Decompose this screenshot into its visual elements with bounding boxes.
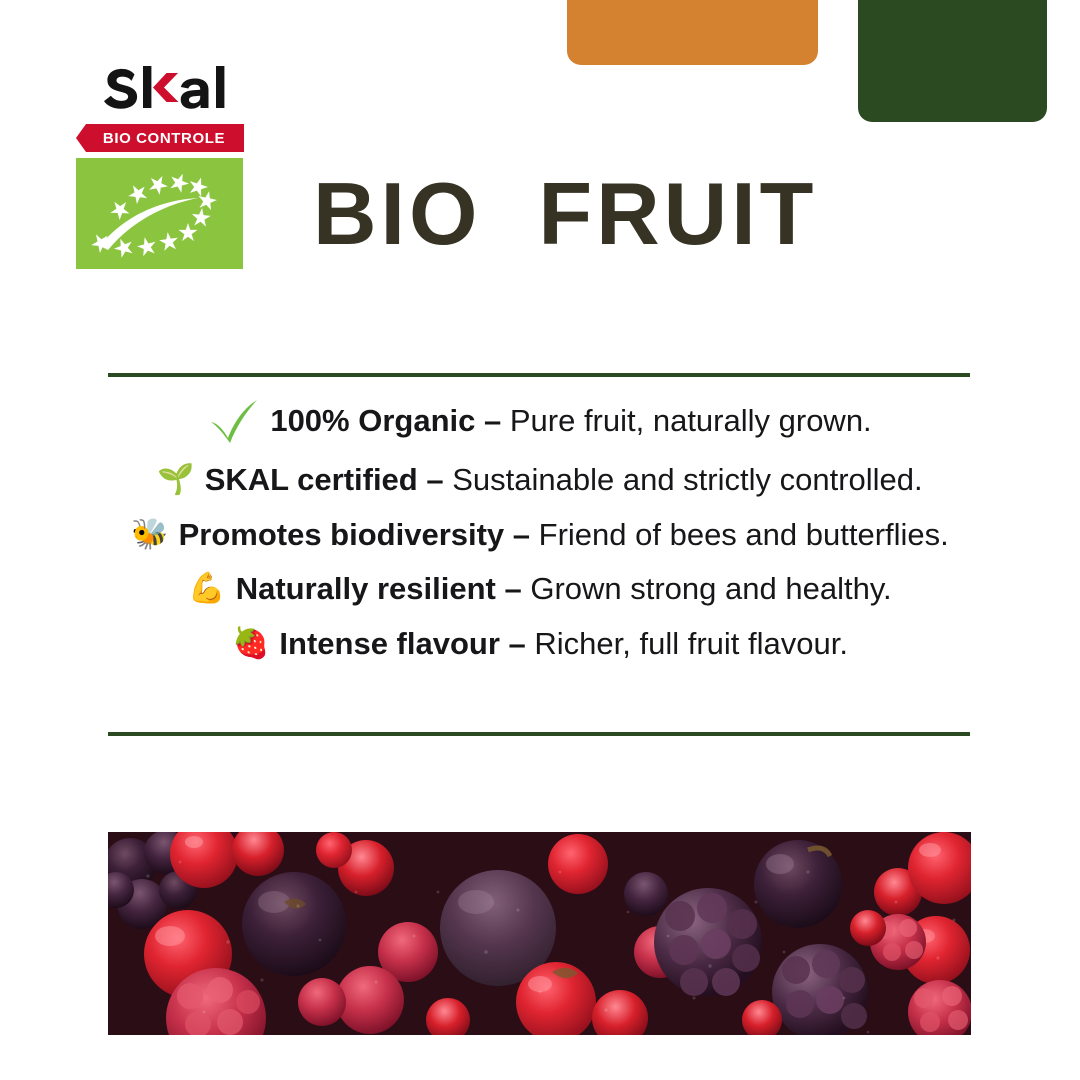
- feature-text: Promotes biodiversity – Friend of bees a…: [179, 517, 949, 554]
- feature-separator: –: [475, 403, 509, 438]
- feature-title: Intense flavour: [279, 626, 500, 661]
- list-item: 🌱 SKAL certified – Sustainable and stric…: [60, 462, 1020, 499]
- skal-certification-logo: BIO CONTROLE: [76, 62, 316, 269]
- feature-separator: –: [418, 462, 452, 497]
- feature-title: Naturally resilient: [236, 571, 496, 606]
- page-title: BIO FRUIT: [313, 170, 817, 258]
- feature-separator: –: [496, 571, 530, 606]
- feature-description: Richer, full fruit flavour.: [534, 626, 848, 661]
- feature-text: 100% Organic – Pure fruit, naturally gro…: [270, 403, 871, 440]
- skal-wordmark: [104, 62, 316, 120]
- divider-top: [108, 373, 970, 377]
- feature-description: Pure fruit, naturally grown.: [510, 403, 872, 438]
- green-accent-block: [858, 0, 1047, 122]
- bio-controle-banner: BIO CONTROLE: [76, 124, 244, 152]
- list-item: 🍓 Intense flavour – Richer, full fruit f…: [60, 626, 1020, 663]
- honeybee-icon: 🐝: [131, 520, 168, 550]
- divider-bottom: [108, 732, 970, 736]
- eu-organic-leaf-logo: [76, 158, 243, 269]
- flexed-biceps-icon: 💪: [188, 574, 225, 604]
- feature-list: 100% Organic – Pure fruit, naturally gro…: [60, 398, 1020, 662]
- mixed-berries-photo: [108, 832, 971, 1035]
- check-mark-icon: [208, 398, 260, 444]
- list-item: 100% Organic – Pure fruit, naturally gro…: [60, 398, 1020, 444]
- feature-description: Sustainable and strictly controlled.: [452, 462, 922, 497]
- strawberry-icon: 🍓: [232, 629, 269, 659]
- feature-title: Promotes biodiversity: [179, 517, 505, 552]
- feature-separator: –: [504, 517, 538, 552]
- feature-text: SKAL certified – Sustainable and strictl…: [205, 462, 923, 499]
- list-item: 💪 Naturally resilient – Grown strong and…: [60, 571, 1020, 608]
- banner-label: BIO CONTROLE: [76, 124, 244, 152]
- feature-title: 100% Organic: [270, 403, 475, 438]
- feature-text: Intense flavour – Richer, full fruit fla…: [279, 626, 848, 663]
- feature-text: Naturally resilient – Grown strong and h…: [236, 571, 892, 608]
- feature-title: SKAL certified: [205, 462, 418, 497]
- feature-description: Friend of bees and butterflies.: [539, 517, 949, 552]
- orange-accent-block: [567, 0, 818, 65]
- feature-description: Grown strong and healthy.: [530, 571, 891, 606]
- feature-separator: –: [500, 626, 534, 661]
- poster-canvas: BIO CONTROLE: [0, 0, 1080, 1080]
- seedling-icon: 🌱: [157, 465, 194, 495]
- list-item: 🐝 Promotes biodiversity – Friend of bees…: [60, 517, 1020, 554]
